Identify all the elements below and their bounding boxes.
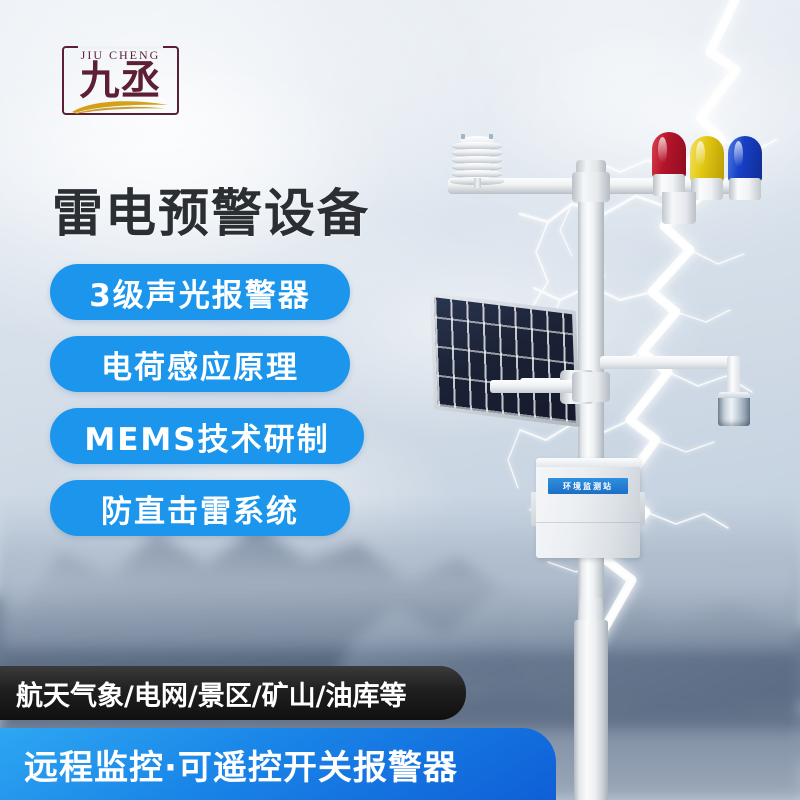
logo-chinese-name: 九丞 <box>58 60 183 102</box>
product-poster: 环境监测站 JIU CHENG 九丞 雷电预警设备 3级声光报警器 电荷感应原理… <box>0 0 800 800</box>
feature-badge-list: 3级声光报警器 电荷感应原理 MEMS技术研制 防直击雷系统 <box>50 264 364 552</box>
page-title: 雷电预警设备 <box>52 172 370 246</box>
applications-banner: 航天气象/电网/景区/矿山/油库等 <box>0 666 466 720</box>
logo-swoosh-icon <box>70 98 170 114</box>
cta-banner[interactable]: 远程监控·可遥控开关报警器 <box>0 728 556 800</box>
cta-label: 远程监控·可遥控开关报警器 <box>24 740 458 789</box>
feature-badge[interactable]: MEMS技术研制 <box>50 408 364 464</box>
feature-badge[interactable]: 电荷感应原理 <box>50 336 350 392</box>
brand-logo[interactable]: JIU CHENG 九丞 <box>58 40 183 125</box>
feature-badge[interactable]: 3级声光报警器 <box>50 264 350 320</box>
feature-badge[interactable]: 防直击雷系统 <box>50 480 350 536</box>
applications-label: 航天气象/电网/景区/矿山/油库等 <box>16 674 406 713</box>
